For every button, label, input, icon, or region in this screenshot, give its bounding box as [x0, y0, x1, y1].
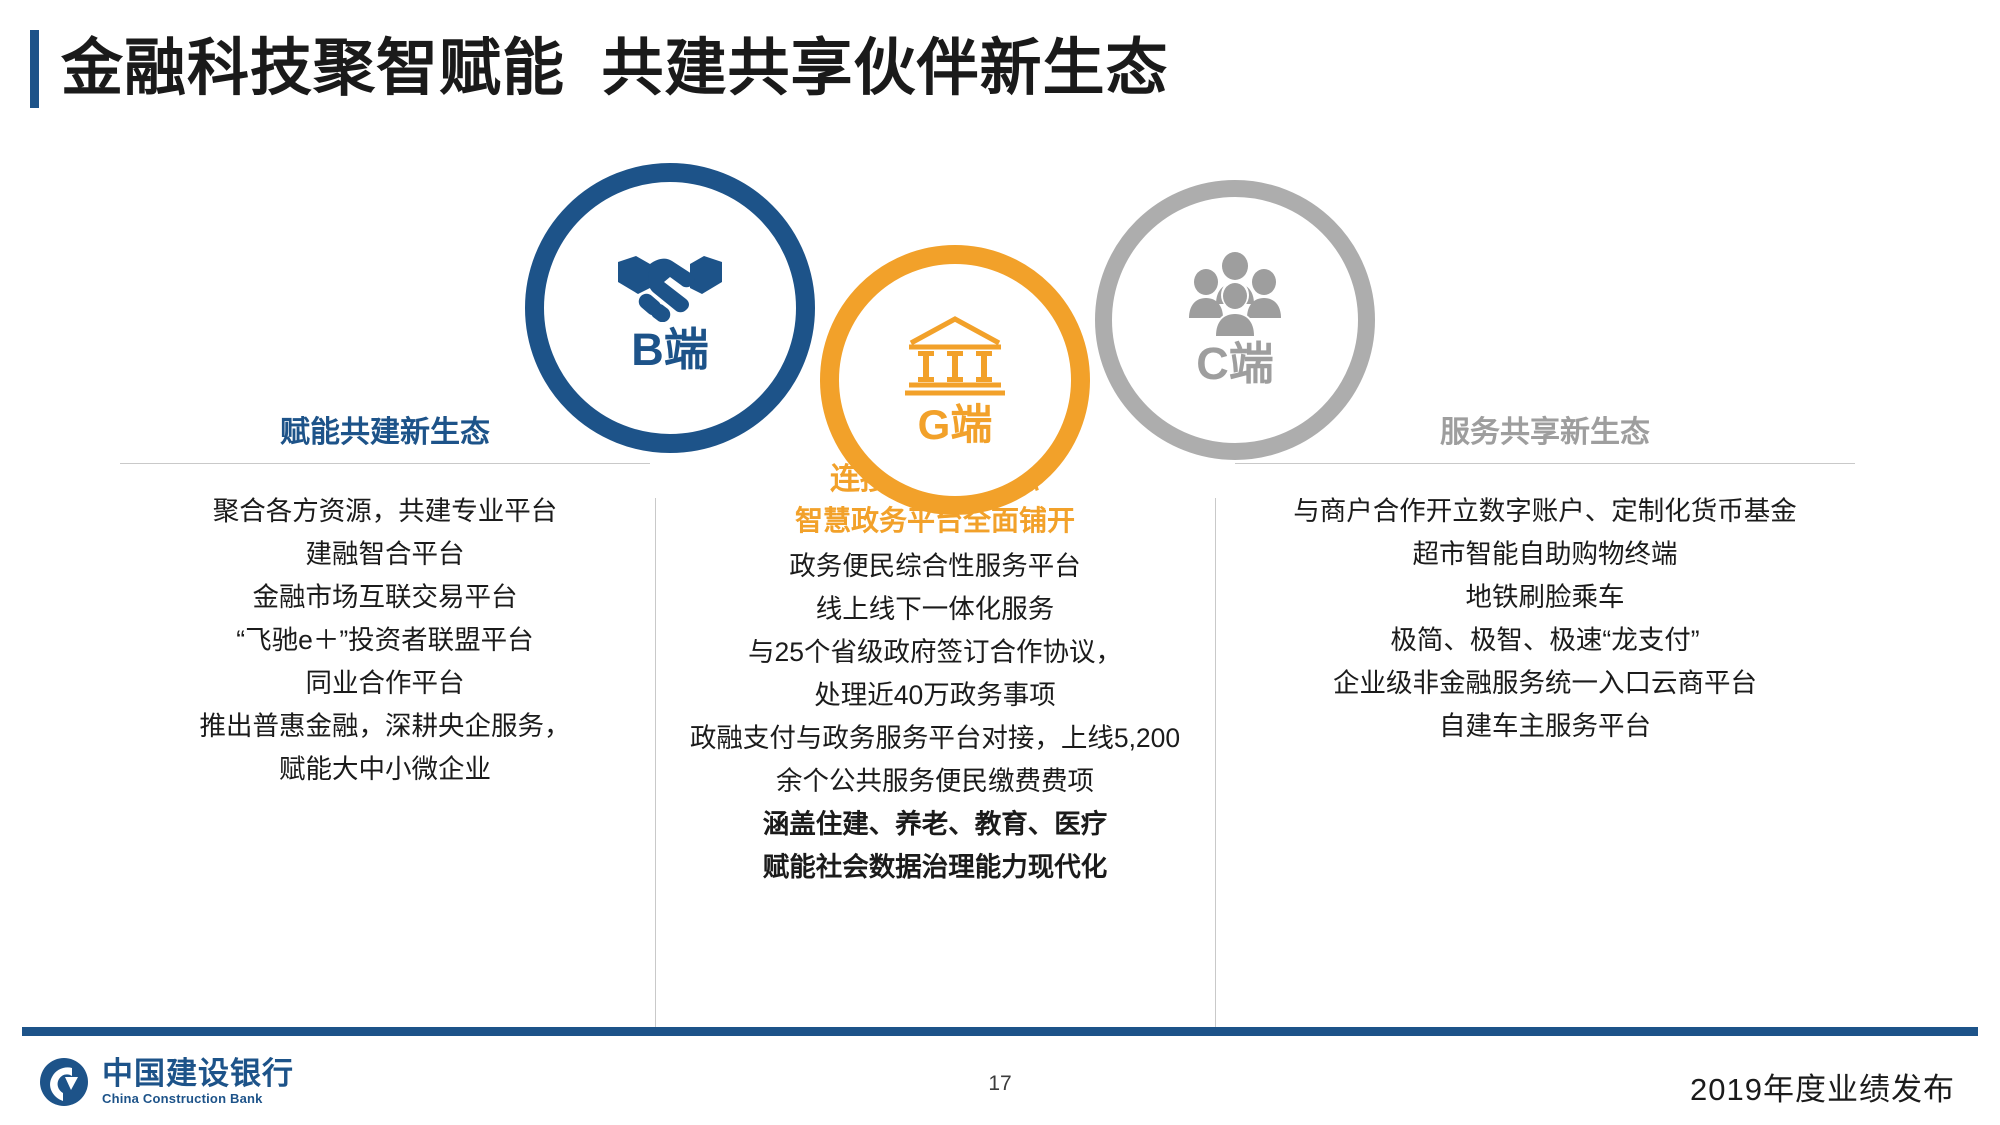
list-item: 自建车主服务平台: [1235, 705, 1855, 748]
circle-c-end: C端: [1095, 180, 1375, 460]
list-item: 涵盖住建、养老、教育、医疗: [670, 803, 1200, 846]
footer-accent-rule: [22, 1027, 1978, 1036]
list-item: 聚合各方资源，共建专业平台: [120, 490, 650, 533]
circle-b-end-label: B端: [631, 326, 709, 373]
list-item: 赋能社会数据治理能力现代化: [670, 846, 1200, 889]
footer-report-label: 2019年度业绩发布: [1690, 1064, 1955, 1109]
list-item: 余个公共服务便民缴费费项: [670, 760, 1200, 803]
slide-footer: 中国建设银行 China Construction Bank 17 2019年度…: [0, 1040, 2000, 1125]
column-right-body: 与商户合作开立数字账户、定制化货币基金 超市智能自助购物终端 地铁刷脸乘车 极简…: [1235, 490, 1855, 748]
bank-building-icon: [903, 313, 1007, 399]
list-item: 政务便民综合性服务平台: [670, 545, 1200, 588]
list-item: 极简、极智、极速“龙支付”: [1235, 619, 1855, 662]
list-item: 政融支付与政务服务平台对接，上线5,200: [670, 717, 1200, 760]
list-item: 与25个省级政府签订合作协议，: [670, 631, 1200, 674]
people-group-icon: [1186, 252, 1284, 336]
circle-g-end-label: G端: [918, 403, 993, 447]
list-item: 处理近40万政务事项: [670, 674, 1200, 717]
list-item: 推出普惠金融，深耕央企服务，: [120, 705, 650, 748]
list-item: 线上线下一体化服务: [670, 588, 1200, 631]
list-item: 建融智合平台: [120, 533, 650, 576]
column-enable-cobuild: 赋能共建新生态 聚合各方资源，共建专业平台 建融智合平台 金融市场互联交易平台 …: [120, 415, 650, 790]
circle-c-end-label: C端: [1196, 340, 1274, 387]
page-title: 金融科技聚智赋能 共建共享伙伴新生态: [61, 38, 1168, 100]
list-item: 与商户合作开立数字账户、定制化货币基金: [1235, 490, 1855, 533]
list-item: 企业级非金融服务统一入口云商平台: [1235, 662, 1855, 705]
title-accent-bar: [30, 30, 39, 108]
slide-title-area: 金融科技聚智赋能 共建共享伙伴新生态: [30, 30, 1168, 108]
column-share-service: 服务共享新生态 与商户合作开立数字账户、定制化货币基金 超市智能自助购物终端 地…: [1235, 415, 1855, 748]
column-divider-right: [1215, 498, 1216, 1033]
circle-g-end: G端: [820, 245, 1090, 515]
column-left-rule: [120, 463, 650, 464]
circle-b-end: B端: [525, 163, 815, 453]
column-left-body: 聚合各方资源，共建专业平台 建融智合平台 金融市场互联交易平台 “飞驰e＋”投资…: [120, 490, 650, 790]
list-item: 超市智能自助购物终端: [1235, 533, 1855, 576]
list-item: 同业合作平台: [120, 662, 650, 705]
list-item: 赋能大中小微企业: [120, 748, 650, 791]
list-item: 金融市场互联交易平台: [120, 576, 650, 619]
column-mid-body: 政务便民综合性服务平台 线上线下一体化服务 与25个省级政府签订合作协议， 处理…: [670, 545, 1200, 888]
column-left-heading: 赋能共建新生态: [120, 415, 650, 451]
list-item: “飞驰e＋”投资者联盟平台: [120, 619, 650, 662]
list-item: 地铁刷脸乘车: [1235, 576, 1855, 619]
column-divider-left: [655, 498, 656, 1033]
column-right-rule: [1235, 463, 1855, 464]
handshake-icon: [616, 242, 724, 322]
